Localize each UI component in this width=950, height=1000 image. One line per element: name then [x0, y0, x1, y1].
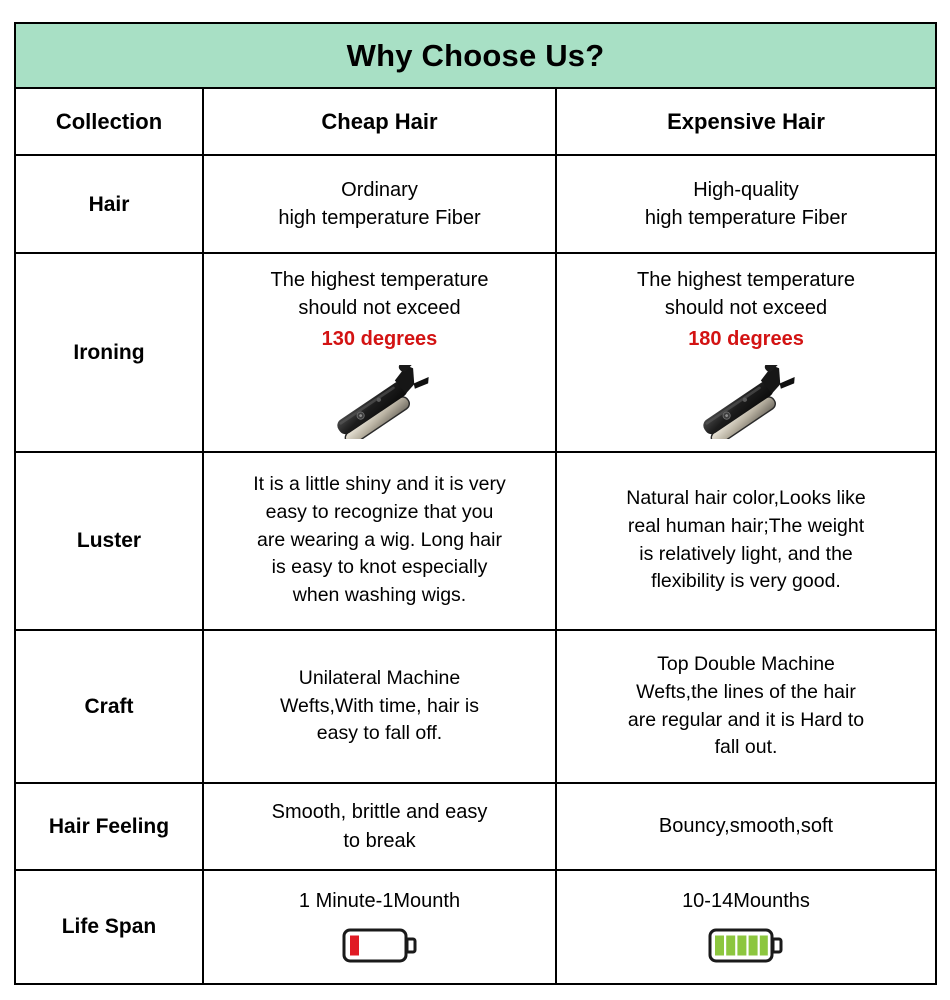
cell-luster-cheap: It is a little shiny and it is very easy… [203, 452, 556, 630]
table-row-luster: Luster It is a little shiny and it is ve… [15, 452, 936, 630]
cell-ironing-expensive-emphasis: 180 degrees [688, 325, 804, 353]
column-header-expensive: Expensive Hair [556, 88, 936, 155]
column-header-cheap: Cheap Hair [203, 88, 556, 155]
cell-craft-expensive-text: Top Double Machine Wefts,the lines of th… [563, 651, 929, 762]
cell-ironing-expensive-box: The highest temperature should not excee… [563, 266, 929, 439]
cell-hair-expensive-text: High-quality high temperature Fiber [563, 176, 929, 233]
hair-straightener-icon [690, 356, 802, 439]
table-row-hair-feeling: Hair Feeling Smooth, brittle and easy to… [15, 783, 936, 870]
table-row-ironing: Ironing The highest temperature should n… [15, 253, 936, 452]
cell-hair-expensive: High-quality high temperature Fiber [556, 155, 936, 253]
table-row-hair: Hair Ordinary high temperature Fiber Hig… [15, 155, 936, 253]
cell-luster-expensive-text: Natural hair color,Looks like real human… [563, 485, 929, 596]
column-header-cheap-label: Cheap Hair [210, 109, 549, 134]
cell-hair-feeling-expensive-text: Bouncy,smooth,soft [563, 812, 929, 840]
cell-ironing-cheap-emphasis: 130 degrees [322, 325, 438, 353]
row-label-life-span-text: Life Span [22, 914, 196, 939]
column-header-row: Collection Cheap Hair Expensive Hair [15, 88, 936, 155]
column-header-collection-label: Collection [22, 109, 196, 134]
cell-luster-cheap-text: It is a little shiny and it is very easy… [210, 471, 549, 609]
row-label-craft: Craft [15, 630, 203, 784]
cell-hair-cheap: Ordinary high temperature Fiber [203, 155, 556, 253]
row-label-luster-text: Luster [22, 528, 196, 553]
cell-life-span-cheap-text: 1 Minute-1Mounth [299, 888, 460, 914]
cell-life-span-expensive-text: 10-14Mounths [682, 888, 810, 914]
table-row-craft: Craft Unilateral Machine Wefts,With time… [15, 630, 936, 784]
row-label-ironing-text: Ironing [22, 340, 196, 365]
cell-life-span-expensive-box: 10-14Mounths [563, 888, 929, 966]
table-row-life-span: Life Span 1 Minute-1Mounth [15, 870, 936, 984]
row-label-hair-text: Hair [22, 192, 196, 217]
cell-hair-feeling-expensive: Bouncy,smooth,soft [556, 783, 936, 870]
column-header-collection: Collection [15, 88, 203, 155]
cell-hair-cheap-text: Ordinary high temperature Fiber [210, 176, 549, 233]
comparison-table: Why Choose Us? Collection Cheap Hair Exp… [14, 22, 937, 985]
row-label-luster: Luster [15, 452, 203, 630]
row-label-life-span: Life Span [15, 870, 203, 984]
page-title: Why Choose Us? [22, 40, 929, 71]
cell-craft-cheap-text: Unilateral Machine Wefts,With time, hair… [210, 665, 549, 748]
row-label-hair-feeling: Hair Feeling [15, 783, 203, 870]
cell-life-span-expensive: 10-14Mounths [556, 870, 936, 984]
cell-ironing-expensive-text: The highest temperature should not excee… [637, 266, 855, 323]
comparison-table-wrapper: Why Choose Us? Collection Cheap Hair Exp… [14, 22, 935, 985]
cell-life-span-cheap-box: 1 Minute-1Mounth [210, 888, 549, 966]
cell-hair-feeling-cheap-text: Smooth, brittle and easy to break [210, 798, 549, 855]
cell-ironing-cheap-text: The highest temperature should not excee… [271, 266, 489, 323]
battery-full-icon [707, 916, 785, 966]
cell-craft-expensive: Top Double Machine Wefts,the lines of th… [556, 630, 936, 784]
cell-craft-cheap: Unilateral Machine Wefts,With time, hair… [203, 630, 556, 784]
cell-luster-expensive: Natural hair color,Looks like real human… [556, 452, 936, 630]
row-label-craft-text: Craft [22, 694, 196, 719]
cell-ironing-cheap: The highest temperature should not excee… [203, 253, 556, 452]
title-row: Why Choose Us? [15, 23, 936, 88]
row-label-hair-feeling-text: Hair Feeling [22, 814, 196, 839]
cell-hair-feeling-cheap: Smooth, brittle and easy to break [203, 783, 556, 870]
comparison-table-page: Why Choose Us? Collection Cheap Hair Exp… [0, 0, 950, 1000]
hair-straightener-icon [324, 356, 436, 439]
cell-ironing-expensive: The highest temperature should not excee… [556, 253, 936, 452]
cell-ironing-cheap-box: The highest temperature should not excee… [210, 266, 549, 439]
row-label-ironing: Ironing [15, 253, 203, 452]
title-banner: Why Choose Us? [15, 23, 936, 88]
battery-low-icon [341, 916, 419, 966]
row-label-hair: Hair [15, 155, 203, 253]
cell-life-span-cheap: 1 Minute-1Mounth [203, 870, 556, 984]
column-header-expensive-label: Expensive Hair [563, 109, 929, 134]
